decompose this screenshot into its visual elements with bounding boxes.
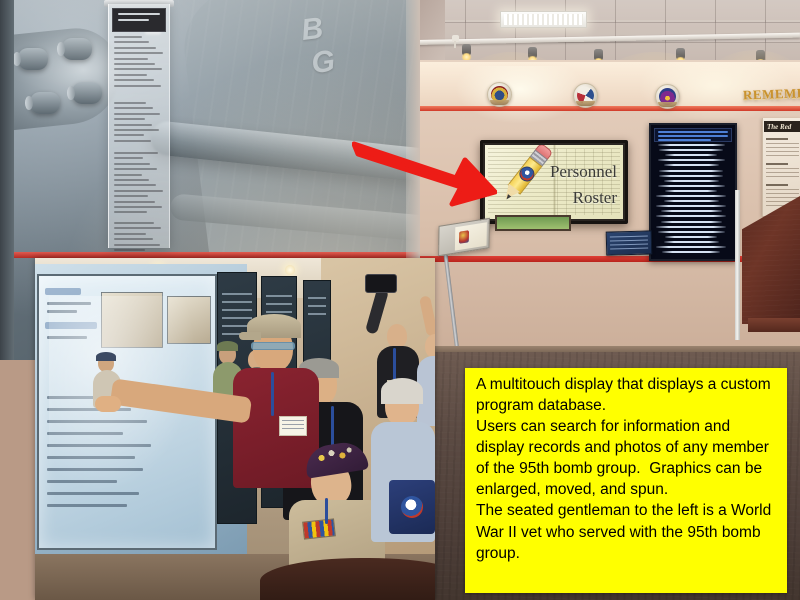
info-panel-line — [114, 102, 146, 104]
track-spotlight — [462, 44, 471, 57]
mural-left-pillar — [0, 0, 14, 360]
kiosk-title: Personnel Roster — [550, 159, 617, 212]
info-panel-line — [114, 233, 146, 235]
squadron-emblem-1 — [487, 82, 512, 107]
photo-table — [260, 558, 435, 600]
wall-red-stripe — [415, 106, 800, 111]
memorial-name — [659, 175, 723, 177]
info-panel-line — [114, 174, 142, 176]
info-panel-line — [114, 163, 150, 165]
memorial-name — [656, 205, 726, 207]
info-panel-line — [114, 140, 151, 142]
memorial-name — [656, 215, 726, 217]
info-panel-line — [114, 179, 149, 181]
info-panel-line — [114, 36, 142, 38]
info-panel-line — [114, 47, 156, 49]
info-panel-line — [114, 68, 162, 70]
kiosk-title-line2: Roster — [550, 185, 617, 211]
memorial-name — [661, 210, 722, 212]
info-panel-line — [114, 74, 147, 76]
memorial-name — [664, 241, 719, 243]
info-panel-line — [114, 195, 148, 197]
info-panel-line — [114, 107, 153, 109]
info-panel-line — [114, 85, 161, 87]
caption-box: A multitouch display that displays a cus… — [465, 368, 787, 593]
info-panel-line — [114, 41, 149, 43]
info-panel-line — [114, 222, 154, 224]
squadron-emblem-3 — [655, 84, 680, 109]
info-panel-line — [114, 244, 160, 246]
info-panel-line — [114, 113, 160, 115]
kiosk-screen[interactable]: Personnel Roster — [485, 145, 623, 219]
exterior-window — [495, 215, 571, 231]
memorial-name — [662, 251, 720, 253]
info-panel-line — [114, 190, 163, 192]
panel-heading-text: The Red — [764, 121, 800, 131]
info-panel-line — [114, 58, 148, 60]
wall-plaque — [606, 230, 653, 255]
slide-canvas: REMEMBER The Red — [0, 0, 800, 600]
info-panel-line — [114, 63, 155, 65]
track-anchor — [452, 35, 459, 42]
info-panel-line — [114, 124, 152, 126]
wall-light-wash — [455, 66, 585, 124]
info-panel-line — [114, 168, 157, 170]
ceiling-light-panel — [500, 11, 587, 28]
memorial-name — [664, 200, 719, 202]
photo-pointing-hand — [95, 396, 121, 412]
memorial-name — [661, 221, 722, 223]
memorial-name — [659, 149, 723, 151]
railing-post — [735, 190, 740, 340]
photo-cap-brim — [239, 332, 261, 340]
memorial-name — [656, 246, 726, 248]
info-panel-line — [114, 157, 143, 159]
inset-photo-visitors — [35, 258, 435, 600]
memorial-name — [658, 185, 725, 187]
memorial-name — [665, 236, 717, 238]
memorial-name — [665, 190, 717, 192]
memorial-name — [659, 170, 723, 172]
memorial-name — [658, 144, 725, 146]
info-panel-line — [114, 52, 163, 54]
photo-name-badge — [279, 416, 307, 436]
photo-hair — [381, 378, 423, 404]
info-panel-line — [114, 201, 155, 203]
info-panel-line — [114, 184, 156, 186]
memorial-name-board — [649, 123, 737, 261]
info-panel-line — [114, 249, 145, 251]
info-panel-line — [114, 118, 145, 120]
squadron-emblem-2 — [573, 83, 598, 108]
photo-bag-logo — [401, 496, 423, 518]
caption-text: A multitouch display that displays a cus… — [476, 374, 778, 564]
info-panel-line — [114, 79, 154, 81]
memorial-name — [664, 164, 719, 166]
photo-smartphone — [365, 274, 397, 293]
info-panel-line — [114, 152, 158, 154]
memorial-name — [664, 180, 719, 182]
photo-eyeglasses — [251, 342, 295, 350]
panel-heading-bar: The Red — [764, 121, 800, 132]
info-panel-line — [114, 238, 153, 240]
memorial-board-heading — [654, 128, 732, 142]
info-panel-heading — [112, 8, 166, 32]
memorial-name — [658, 231, 725, 233]
memorial-name — [665, 154, 717, 156]
kiosk-display[interactable]: Personnel Roster — [480, 140, 628, 224]
photo-ribbon-bar — [302, 518, 336, 539]
remember-wall-sign: REMEMBER — [743, 85, 800, 104]
memorial-name — [656, 226, 726, 228]
info-panel-line — [114, 129, 159, 131]
mural-info-panel — [108, 4, 170, 248]
wood-railing-base — [748, 318, 800, 332]
memorial-name — [658, 159, 725, 161]
track-spotlight — [528, 47, 537, 60]
info-panel-line — [114, 206, 162, 208]
info-panel-line — [114, 134, 144, 136]
info-panel-line — [114, 211, 147, 213]
info-panel-line — [114, 227, 161, 229]
memorial-name — [656, 195, 726, 197]
kiosk-title-line1: Personnel — [550, 159, 617, 185]
